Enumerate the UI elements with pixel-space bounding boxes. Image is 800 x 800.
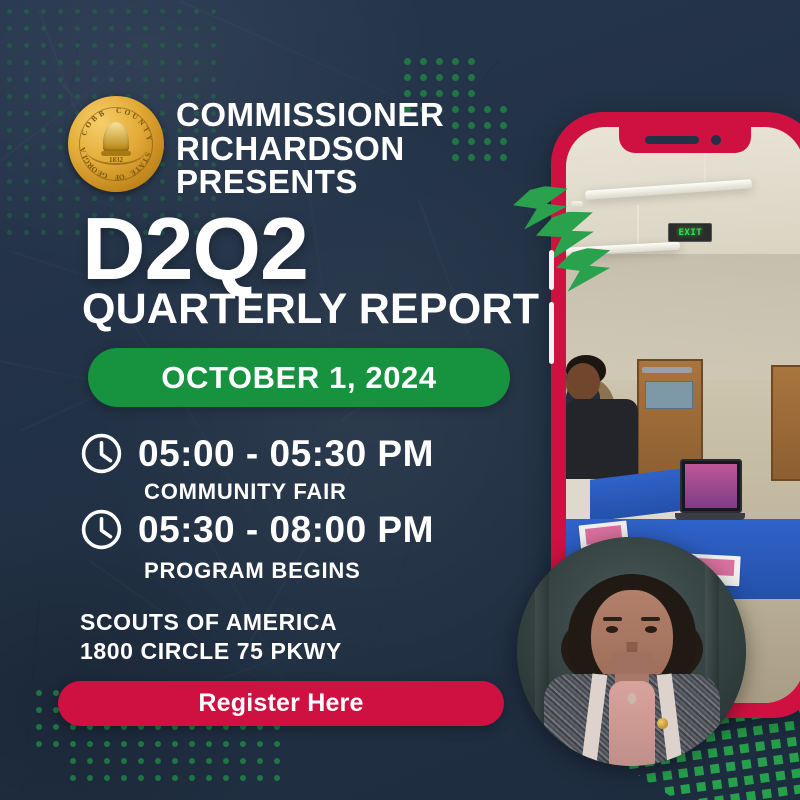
presenter-line-3: PRESENTS	[176, 165, 536, 199]
ceiling-spot	[571, 201, 583, 207]
register-button[interactable]: Register Here	[58, 681, 504, 726]
schedule-row: 05:00 - 05:30 PM	[80, 432, 434, 475]
photo-door-window	[645, 381, 693, 409]
presenter-line-2: RICHARDSON	[176, 132, 536, 166]
seal-year: 1832	[109, 156, 123, 164]
portrait-eye	[645, 626, 657, 633]
flyer-content: COBB COUNTY STATE OF GEORGIA 1832 COMMIS…	[0, 0, 545, 800]
schedule-label: COMMUNITY FAIR	[144, 479, 347, 505]
photo-laptop-base	[675, 513, 745, 520]
event-title: D2Q2	[82, 208, 308, 290]
portrait-necklace	[627, 693, 636, 704]
event-date-label: OCTOBER 1, 2024	[161, 360, 436, 396]
clock-icon	[80, 508, 123, 551]
portrait-lapel-pin	[657, 718, 668, 729]
photo-door	[771, 365, 800, 481]
event-date-pill: OCTOBER 1, 2024	[88, 348, 510, 407]
light-stem	[637, 205, 639, 247]
photo-laptop-screen	[680, 459, 742, 513]
register-button-label: Register Here	[198, 689, 363, 718]
schedule-row: 05:30 - 08:00 PM	[80, 508, 434, 551]
cobb-county-seal: COBB COUNTY STATE OF GEORGIA 1832	[68, 96, 164, 192]
photo-laptop	[680, 459, 742, 513]
phone-volume-down-button	[549, 302, 554, 364]
event-flyer: EXIT	[0, 0, 800, 800]
seal-bottom-text: STATE OF GEORGIA	[68, 96, 164, 192]
phone-volume-up-button	[549, 250, 554, 290]
schedule-time: 05:30 - 08:00 PM	[138, 509, 434, 551]
photo-door-bar	[642, 367, 692, 373]
photo-person-head	[566, 363, 600, 401]
schedule-time: 05:00 - 05:30 PM	[138, 433, 434, 475]
photo-laptop-slide	[685, 464, 737, 508]
exit-sign-text: EXIT	[678, 228, 702, 238]
event-subtitle: QUARTERLY REPORT	[82, 288, 539, 331]
venue-name: SCOUTS OF AMERICA	[80, 608, 342, 637]
commissioner-portrait	[517, 537, 746, 766]
venue-block: SCOUTS OF AMERICA 1800 CIRCLE 75 PKWY	[80, 608, 342, 667]
schedule-label: PROGRAM BEGINS	[144, 558, 361, 584]
venue-address: 1800 CIRCLE 75 PKWY	[80, 637, 342, 666]
clock-icon	[80, 432, 123, 475]
portrait-brow	[603, 617, 622, 621]
phone-camera-icon	[711, 135, 721, 145]
portrait-brow	[641, 617, 660, 621]
portrait-eye	[606, 626, 618, 633]
presenter-line-1: COMMISSIONER	[176, 98, 536, 132]
exit-sign: EXIT	[668, 223, 712, 242]
presenter-heading: COMMISSIONER RICHARDSON PRESENTS	[176, 98, 536, 199]
phone-earpiece	[645, 136, 699, 144]
